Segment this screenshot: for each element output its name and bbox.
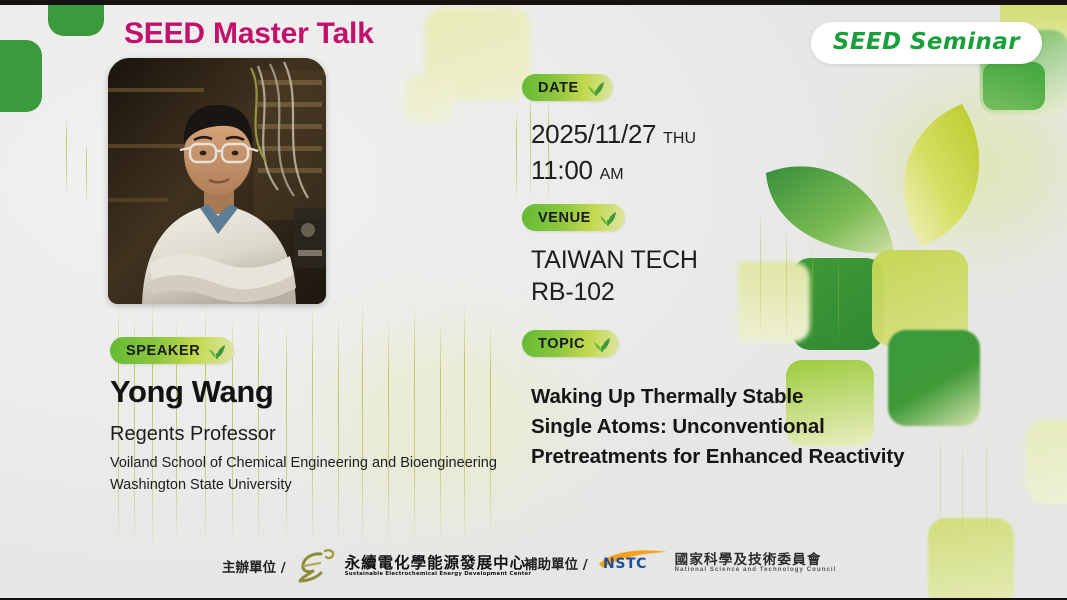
organizer-group: 主辦單位 / 永續電化學能源發展中心 Sustainable Electroch… (222, 548, 531, 584)
date-weekday: THU (663, 130, 696, 147)
sponsor-label: 補助單位 / (524, 553, 588, 573)
organizer-label: 主辦單位 / (222, 556, 286, 576)
venue-line1: TAIWAN TECH (531, 246, 698, 275)
leaf-sprout-icon (585, 77, 607, 99)
leaf-sprout-icon (591, 333, 613, 355)
page-title: SEED Master Talk (124, 17, 374, 51)
leaf-sprout-icon (206, 340, 228, 362)
topic-badge: TOPIC (522, 330, 619, 357)
time-value-line: 11:00 AM (531, 155, 624, 186)
top-border-bar (0, 0, 1067, 5)
sponsor-name-en: National Science and Technology Council (675, 567, 837, 573)
speaker-badge: SPEAKER (110, 337, 234, 364)
topic-line2: Single Atoms: Unconventional (531, 412, 904, 442)
date-value-line: 2025/11/27 THU (531, 119, 696, 150)
speaker-photo (108, 58, 326, 304)
sponsor-name-cn: 國家科學及技術委員會 (675, 553, 837, 568)
organizer-name-cn: 永續電化學能源發展中心 (345, 555, 532, 571)
nstc-logo: NSTC 國家科學及技術委員會 National Science and Tec… (597, 548, 837, 578)
topic-line3: Pretreatments for Enhanced Reactivity (531, 442, 904, 472)
organizer-name-en: Sustainable Electrochemical Energy Devel… (345, 571, 532, 577)
date-value: 2025/11/27 (531, 119, 656, 149)
date-badge: DATE (522, 74, 613, 101)
seed-center-logo: 永續電化學能源發展中心 Sustainable Electrochemical … (295, 548, 532, 584)
time-meridiem: AM (600, 166, 624, 183)
topic-line1: Waking Up Thermally Stable (531, 382, 904, 412)
leaf-sprout-icon (597, 207, 619, 229)
footer: 主辦單位 / 永續電化學能源發展中心 Sustainable Electroch… (0, 540, 1067, 586)
date-badge-label: DATE (538, 80, 579, 96)
series-badge: SEED Seminar (811, 22, 1042, 64)
seed-e-mark-icon (295, 548, 339, 584)
seminar-poster: SEED Master Talk SEED Seminar (0, 0, 1067, 600)
speaker-name: Yong Wang (110, 374, 273, 410)
svg-text:NSTC: NSTC (603, 556, 647, 572)
speaker-affiliation-line1: Voiland School of Chemical Engineering a… (110, 455, 497, 471)
venue-badge: VENUE (522, 204, 625, 231)
topic-text: Waking Up Thermally Stable Single Atoms:… (531, 382, 904, 472)
nstc-mark-icon: NSTC (597, 548, 669, 578)
sponsor-group: 補助單位 / NSTC 國家科學及技術委員會 National Science … (524, 548, 836, 578)
time-value: 11:00 (531, 155, 593, 185)
venue-line2: RB-102 (531, 278, 615, 307)
venue-badge-label: VENUE (538, 210, 591, 226)
series-badge-label: SEED Seminar (833, 29, 1020, 55)
speaker-role: Regents Professor (110, 423, 276, 446)
speaker-affiliation-line2: Washington State University (110, 477, 292, 493)
speaker-badge-label: SPEAKER (126, 343, 200, 359)
topic-badge-label: TOPIC (538, 336, 585, 352)
